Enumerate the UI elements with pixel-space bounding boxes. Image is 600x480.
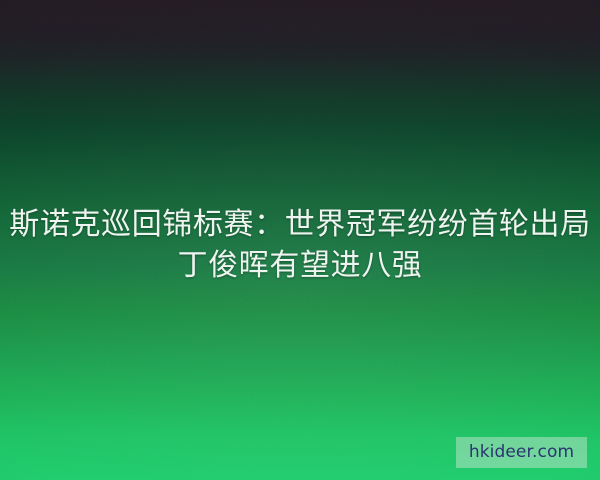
watermark-label: hkideer.com [469,444,574,461]
watermark-badge: hkideer.com [456,437,587,468]
banner-image: 斯诺克巡回锦标赛：世界冠军纷纷首轮出局 丁俊晖有望进八强 hkideer.com [0,0,600,480]
background-gradient [0,0,600,480]
